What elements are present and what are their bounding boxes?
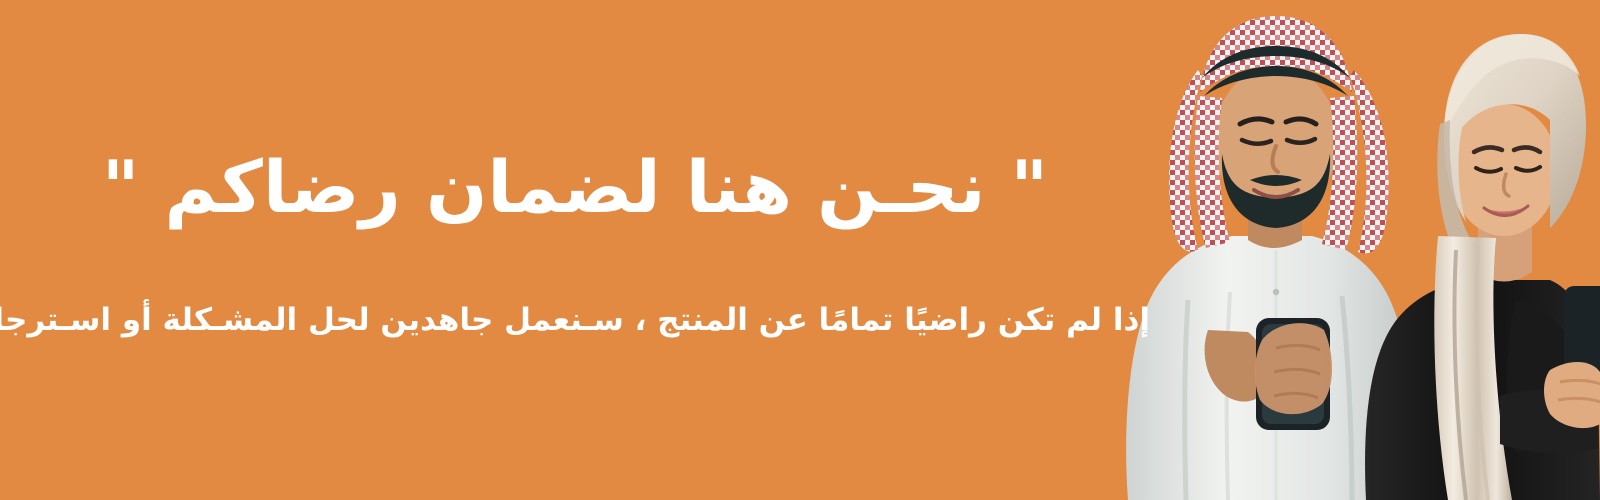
- couple-photo-illustration: [1080, 0, 1600, 500]
- banner-subtitle: إذا لم تكن راضيًا تمامًا عن المنتج ، سـن…: [0, 300, 1150, 340]
- banner-headline: " نحـن هنا لضمان رضاكم ": [0, 150, 1150, 226]
- couple-photo: [1080, 0, 1600, 500]
- banner-text-block: " نحـن هنا لضمان رضاكم " إذا لم تكن راضي…: [0, 0, 1150, 500]
- promo-banner: " نحـن هنا لضمان رضاكم " إذا لم تكن راضي…: [0, 0, 1600, 500]
- woman-figure: [1365, 34, 1600, 500]
